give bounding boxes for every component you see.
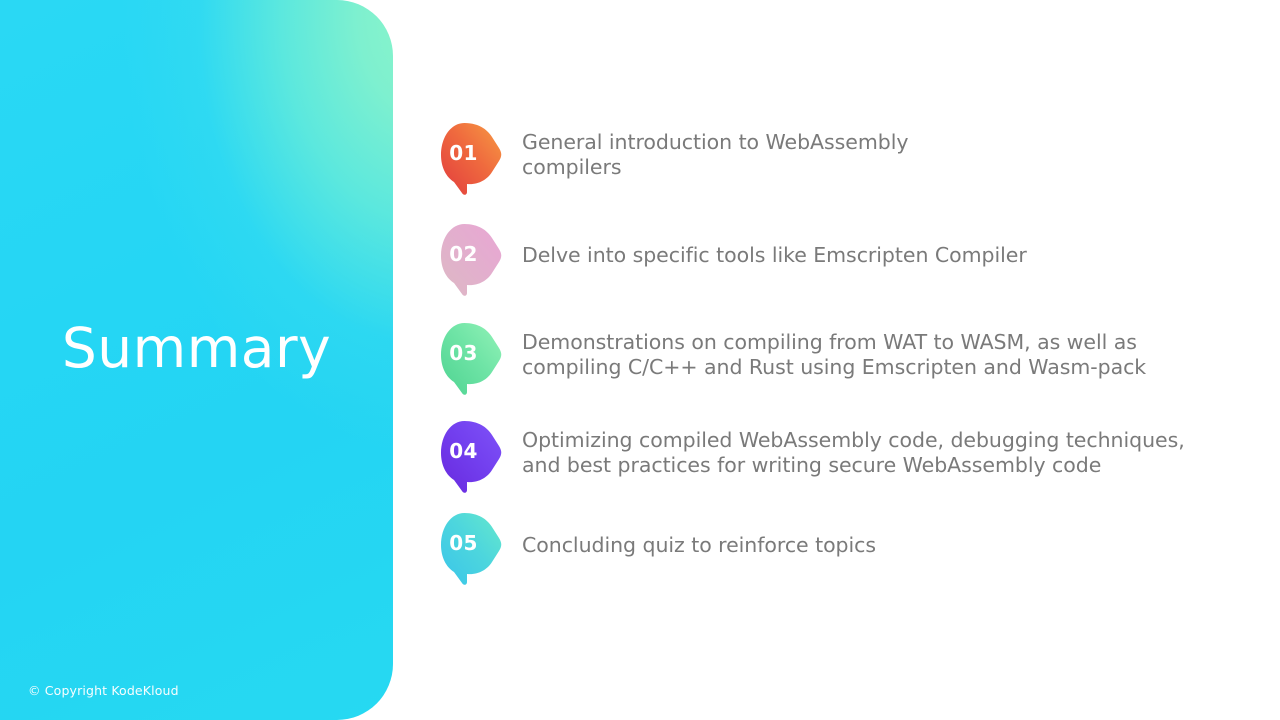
list-item-text: Concluding quiz to reinforce topics [522,501,1280,558]
list-item: 04 Optimizing compiled WebAssembly code,… [440,409,1280,501]
arrow-pointer-badge-icon: 03 [440,322,502,396]
arrow-pointer-badge-icon: 01 [440,122,502,196]
summary-list: 01 General introduction to WebAssembly c… [440,110,1280,593]
arrow-pointer-badge-shape-icon [440,223,502,297]
arrow-pointer-badge-shape-icon [440,322,502,396]
list-item: 05 Concluding quiz to reinforce topics [440,501,1280,593]
copyright-notice: © Copyright KodeKloud [28,683,179,698]
arrow-pointer-badge-icon: 04 [440,420,502,494]
list-item: 01 General introduction to WebAssembly c… [440,110,1280,210]
content-area: 01 General introduction to WebAssembly c… [393,0,1280,720]
list-item-text: Delve into specific tools like Emscripte… [522,210,1280,268]
slide-root: Summary © Copyright KodeKloud [0,0,1280,720]
list-item: 03 Demonstrations on compiling from WAT … [440,310,1280,409]
list-item: 02 Delve into specific tools like Emscri… [440,210,1280,310]
left-gradient-panel: Summary © Copyright KodeKloud [0,0,393,720]
arrow-pointer-badge-shape-icon [440,420,502,494]
list-item-text: General introduction to WebAssembly comp… [522,110,1280,180]
list-item-text: Optimizing compiled WebAssembly code, de… [522,409,1280,478]
page-title: Summary [0,318,393,379]
arrow-pointer-badge-shape-icon [440,122,502,196]
list-item-text: Demonstrations on compiling from WAT to … [522,310,1280,380]
arrow-pointer-badge-shape-icon [440,512,502,586]
arrow-pointer-badge-icon: 05 [440,512,502,586]
arrow-pointer-badge-icon: 02 [440,223,502,297]
